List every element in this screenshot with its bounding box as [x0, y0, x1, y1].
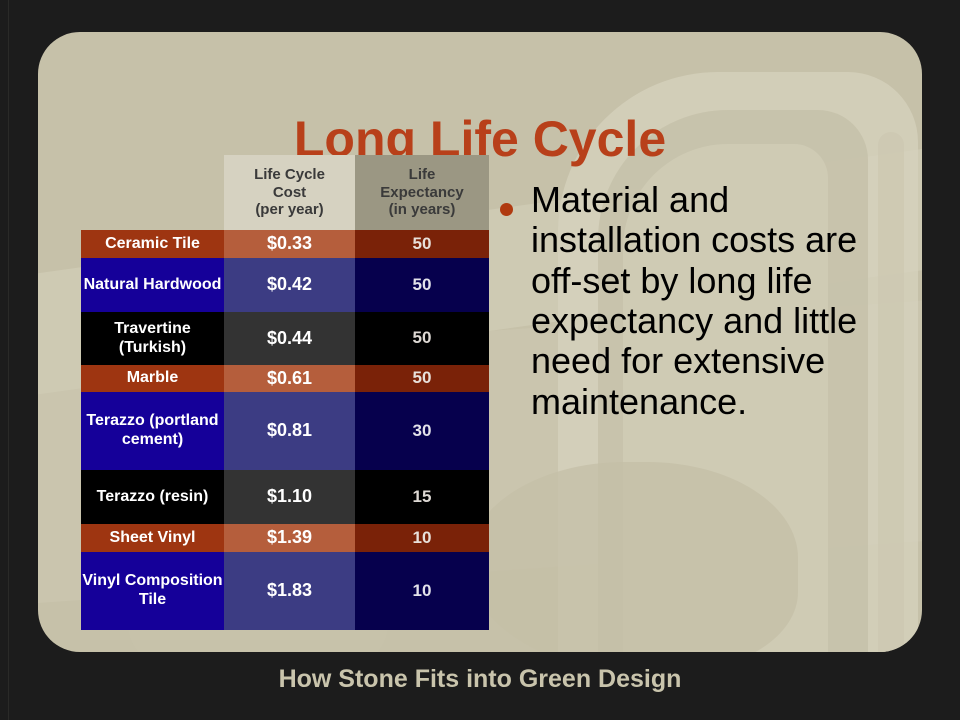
slide: Long Life Cycle Life Cycle Cost (per yea… [0, 0, 960, 720]
cell-life-cycle-cost: $1.39 [224, 524, 355, 552]
header-life-line-3: (in years) [355, 201, 489, 219]
header-life-cycle-cost: Life Cycle Cost (per year) [224, 155, 355, 230]
cell-material: Marble [81, 365, 224, 392]
table-row: Ceramic Tile$0.3350 [81, 230, 489, 258]
cell-life-expectancy: 50 [355, 230, 489, 258]
cell-life-expectancy: 50 [355, 258, 489, 312]
cell-material: Vinyl Composition Tile [81, 552, 224, 630]
cell-life-cycle-cost: $0.42 [224, 258, 355, 312]
bullet-dot-icon [500, 203, 513, 216]
header-material [81, 155, 224, 230]
slide-panel: Long Life Cycle Life Cycle Cost (per yea… [38, 32, 922, 652]
cell-life-expectancy: 15 [355, 470, 489, 524]
table-row: Sheet Vinyl$1.3910 [81, 524, 489, 552]
slide-footer: How Stone Fits into Green Design [0, 665, 960, 694]
frame-edge-line [8, 0, 9, 720]
table-row: Natural Hardwood$0.4250 [81, 258, 489, 312]
cell-material: Natural Hardwood [81, 258, 224, 312]
table-row: Travertine (Turkish)$0.4450 [81, 312, 489, 365]
table-row: Terazzo (resin)$1.1015 [81, 470, 489, 524]
life-cycle-table: Life Cycle Cost (per year) Life Expectan… [81, 155, 489, 630]
header-life-line-2: Expectancy [355, 184, 489, 202]
table-row: Vinyl Composition Tile$1.8310 [81, 552, 489, 630]
table-header-row: Life Cycle Cost (per year) Life Expectan… [81, 155, 489, 230]
cell-life-cycle-cost: $1.10 [224, 470, 355, 524]
header-life-expectancy: Life Expectancy (in years) [355, 155, 489, 230]
table-row: Marble$0.6150 [81, 365, 489, 392]
cell-life-cycle-cost: $0.61 [224, 365, 355, 392]
header-life-line-1: Life [355, 166, 489, 184]
cell-life-expectancy: 10 [355, 552, 489, 630]
bullet-item-text: Material and installation costs are off-… [531, 180, 900, 422]
cell-life-cycle-cost: $0.44 [224, 312, 355, 365]
table-row: Terazzo (portland cement)$0.8130 [81, 392, 489, 470]
header-cost-line-1: Life Cycle [224, 166, 355, 184]
bullet-list: Material and installation costs are off-… [500, 180, 900, 422]
table-body: Ceramic Tile$0.3350Natural Hardwood$0.42… [81, 230, 489, 630]
cell-material: Sheet Vinyl [81, 524, 224, 552]
cell-life-expectancy: 10 [355, 524, 489, 552]
header-cost-line-3: (per year) [224, 201, 355, 219]
cell-material: Terazzo (portland cement) [81, 392, 224, 470]
cell-material: Travertine (Turkish) [81, 312, 224, 365]
cell-life-cycle-cost: $0.81 [224, 392, 355, 470]
header-cost-line-2: Cost [224, 184, 355, 202]
cell-life-expectancy: 50 [355, 312, 489, 365]
cell-material: Ceramic Tile [81, 230, 224, 258]
background-blob-shape [468, 462, 798, 652]
cell-material: Terazzo (resin) [81, 470, 224, 524]
cell-life-cycle-cost: $1.83 [224, 552, 355, 630]
table-header: Life Cycle Cost (per year) Life Expectan… [81, 155, 489, 230]
cell-life-expectancy: 30 [355, 392, 489, 470]
cell-life-expectancy: 50 [355, 365, 489, 392]
cell-life-cycle-cost: $0.33 [224, 230, 355, 258]
